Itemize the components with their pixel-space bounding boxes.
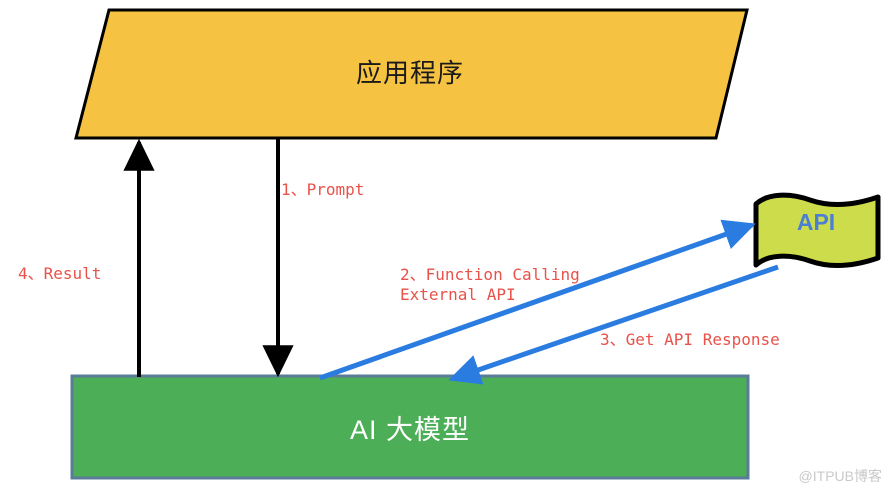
api-node-shape <box>756 195 878 265</box>
api-response-arrow <box>452 267 778 379</box>
diagram-svg <box>0 0 890 492</box>
diagram-canvas: 应用程序 AI 大模型 API 1、Prompt 4、Result 2、Func… <box>0 0 890 492</box>
application-node-shape <box>76 10 747 138</box>
ai-model-node-shape <box>72 376 748 478</box>
function-calling-arrow <box>320 225 752 378</box>
